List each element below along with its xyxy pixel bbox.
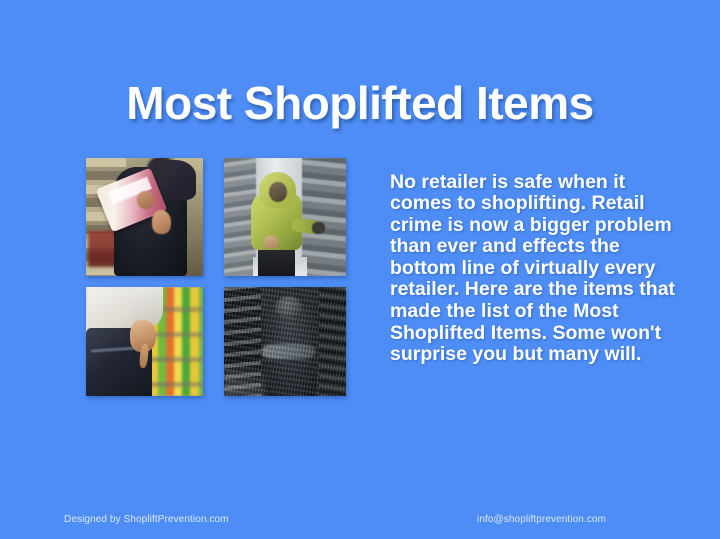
cctv-noise-decor bbox=[224, 287, 346, 396]
photo-green-hoodie-suspect bbox=[224, 158, 346, 276]
figure-right-hand-decor bbox=[312, 222, 325, 234]
photo-hand-in-back-pocket bbox=[86, 287, 203, 396]
figure-left-hand-decor bbox=[264, 236, 279, 249]
photo-cctv-dark-figure bbox=[224, 287, 346, 396]
page-title: Most Shoplifted Items bbox=[0, 79, 720, 129]
body-paragraph: No retailer is safe when it comes to sho… bbox=[390, 172, 680, 366]
photo-shoplifter-meat-package bbox=[86, 158, 203, 276]
figure-hand-lower-decor bbox=[152, 210, 172, 234]
figure-face-decor bbox=[269, 182, 287, 202]
slide-canvas: Most Shoplifted Items bbox=[0, 0, 720, 539]
footer-design-credit: Designed by ShopliftPrevention.com bbox=[64, 514, 229, 525]
aisle-right-decor bbox=[302, 158, 346, 276]
footer-contact-email: info@shopliftprevention.com bbox=[477, 514, 606, 525]
figure-hand-upper-decor bbox=[137, 191, 153, 209]
photo-grid bbox=[86, 158, 346, 396]
